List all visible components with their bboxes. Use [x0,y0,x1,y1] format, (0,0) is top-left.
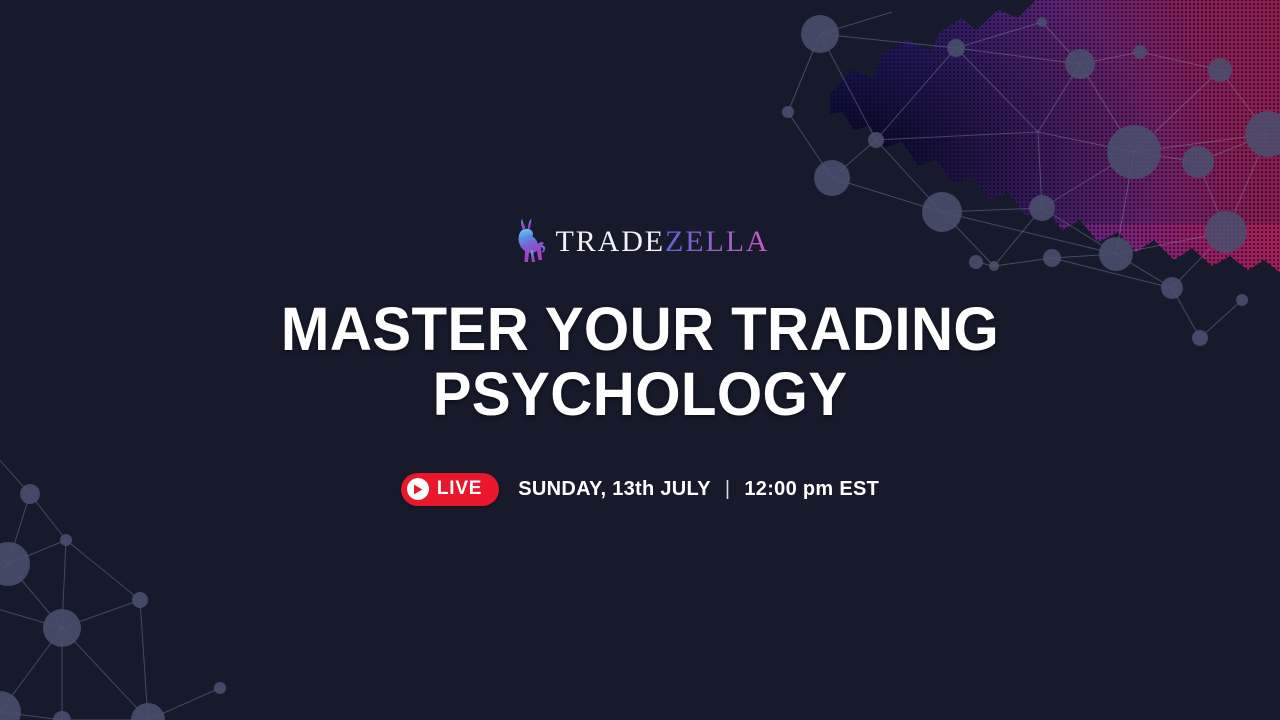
title-card-canvas: TRADEZELLA MASTER YOUR TRADING PSYCHOLOG… [0,0,1280,720]
play-triangle-icon [407,478,429,500]
brand-wordmark: TRADEZELLA [556,227,770,257]
schedule-date: SUNDAY, 13th JULY [518,479,711,499]
broadcast-info-row: LIVE SUNDAY, 13th JULY | 12:00 pm EST [401,473,879,506]
status-badge-label: LIVE [437,479,482,498]
page-title: MASTER YOUR TRADING PSYCHOLOGY [281,297,999,428]
status-badge: LIVE [401,473,499,506]
schedule-separator: | [725,479,731,499]
title-card-content: TRADEZELLA MASTER YOUR TRADING PSYCHOLOG… [0,0,1280,720]
page-title-line-2: PSYCHOLOGY [281,362,999,427]
schedule-text: SUNDAY, 13th JULY | 12:00 pm EST [518,479,879,499]
brand-wordmark-primary: TRADE [556,225,666,258]
gazelle-logo-icon [511,218,547,264]
brand-wordmark-accent: ZELLA [665,225,769,258]
schedule-time: 12:00 pm EST [744,479,879,499]
page-title-line-1: MASTER YOUR TRADING [281,297,999,362]
brand-logo: TRADEZELLA [511,214,770,268]
